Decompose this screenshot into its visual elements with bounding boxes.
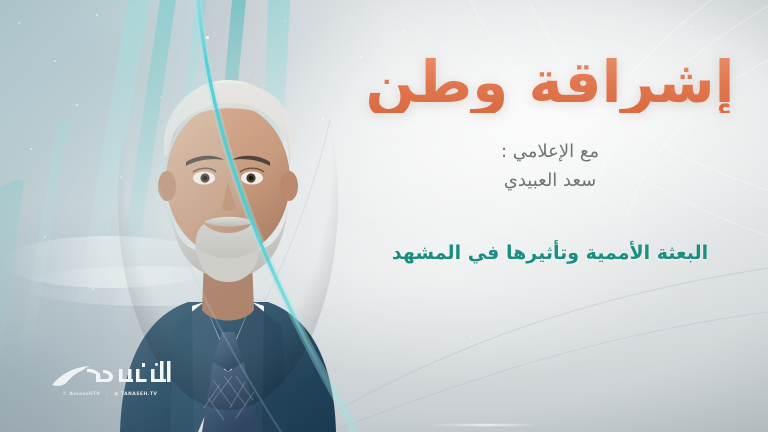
vignette-overlay: [0, 0, 768, 432]
broadcast-promo-graphic: إشراقة وطن مع الإعلامي : سعد العبيدي الب…: [0, 0, 768, 432]
